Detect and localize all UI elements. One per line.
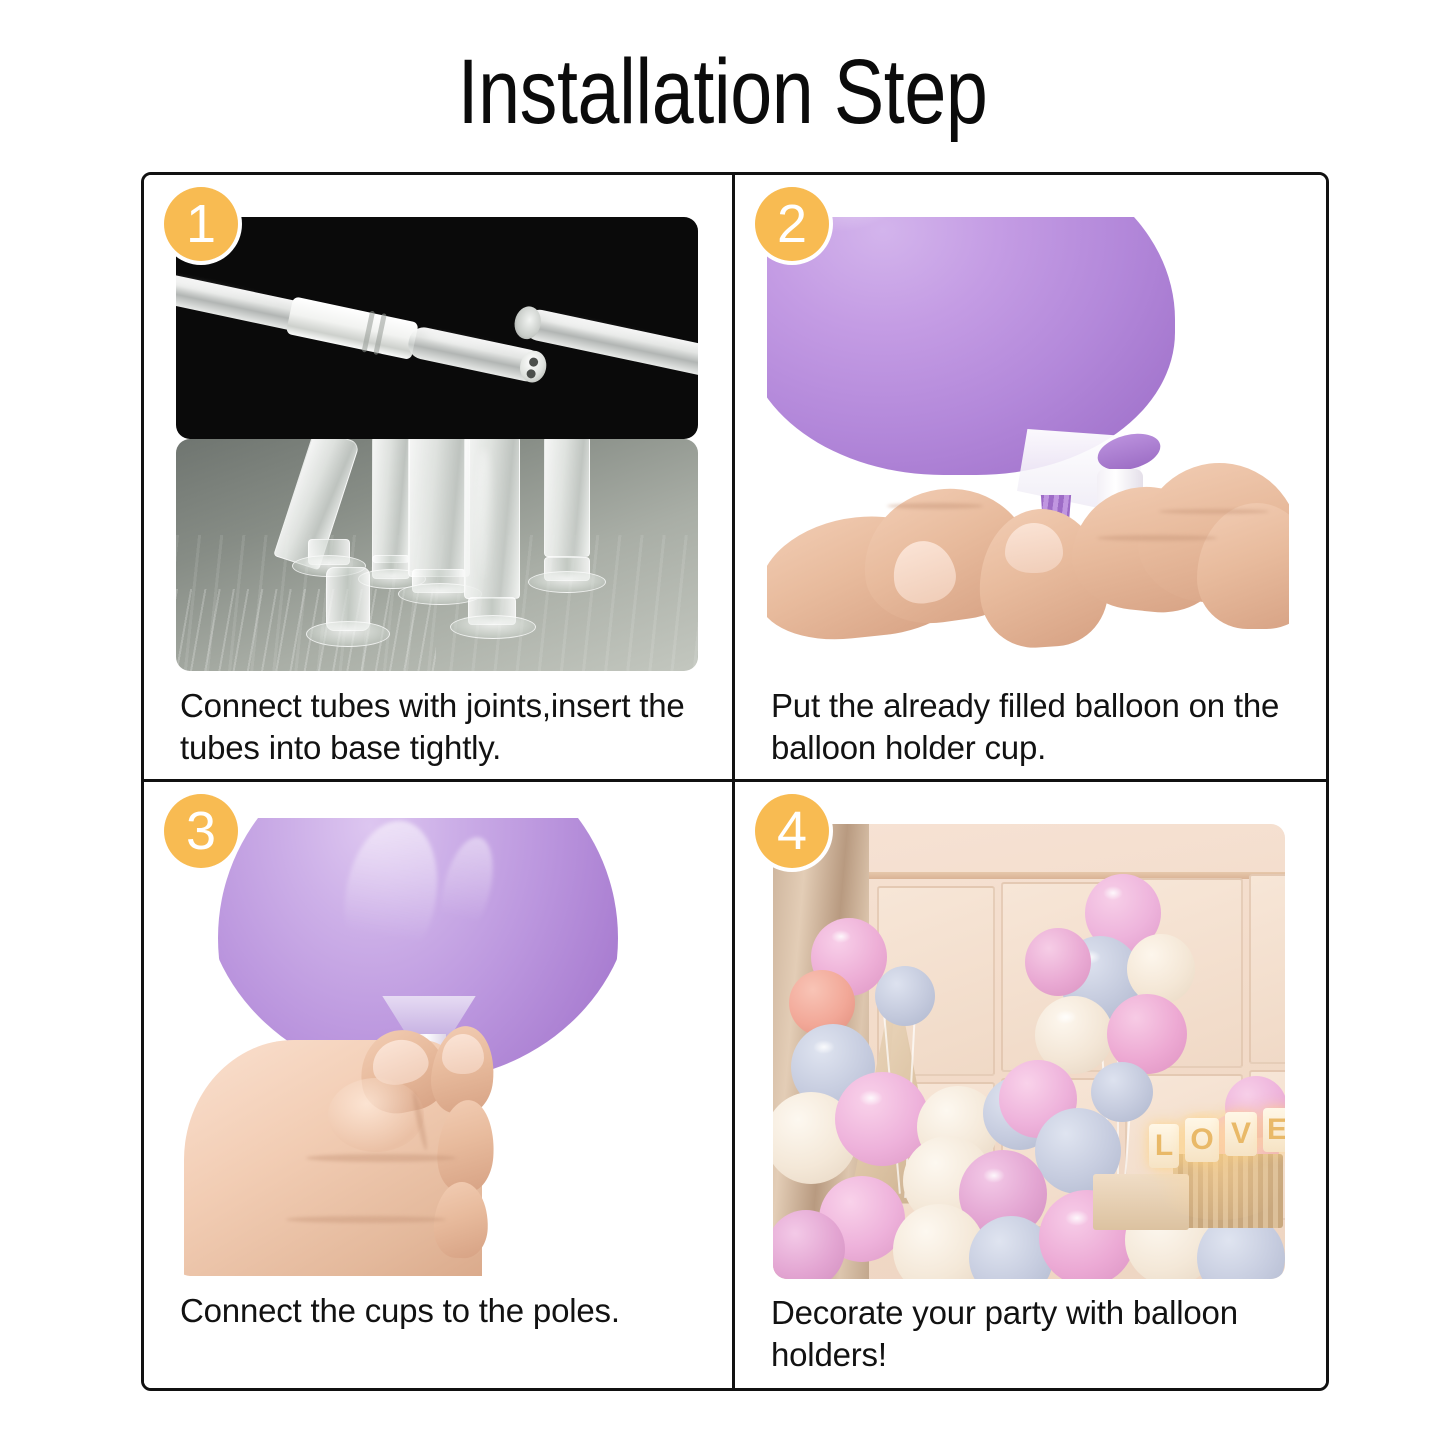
steps-grid: 1 Connect tubes with joints,insert the t… bbox=[141, 172, 1329, 1391]
love-letter-l: L bbox=[1149, 1124, 1179, 1168]
love-letter-e: E bbox=[1263, 1108, 1285, 1152]
step-panel-3: 3 Connect the cups to the poles. bbox=[144, 782, 735, 1389]
step-panel-1: 1 Connect tubes with joints,insert the t… bbox=[144, 175, 735, 782]
step-caption-2: Put the already filled balloon on the ba… bbox=[771, 685, 1308, 769]
step-badge-4: 4 bbox=[755, 794, 829, 868]
love-letter-v: V bbox=[1225, 1112, 1257, 1156]
step-2-photo-balloon-on-cup bbox=[767, 217, 1289, 672]
love-letter-o: O bbox=[1185, 1118, 1219, 1162]
step-caption-1: Connect tubes with joints,insert the tub… bbox=[180, 685, 714, 769]
step-caption-4: Decorate your party with balloon holders… bbox=[771, 1292, 1308, 1376]
step-badge-2: 2 bbox=[755, 187, 829, 261]
step-1-photo-tubes-joint bbox=[176, 217, 698, 439]
step-3-photo-cup-on-pole bbox=[176, 818, 698, 1276]
step-panel-4: L O V E 4 Decorate your party with ballo… bbox=[735, 782, 1326, 1389]
infographic-page: Installation Step bbox=[0, 0, 1445, 1445]
step-4-photo-party-decoration: L O V E bbox=[773, 824, 1285, 1279]
step-caption-3: Connect the cups to the poles. bbox=[180, 1290, 714, 1332]
page-title: Installation Step bbox=[130, 36, 1315, 148]
step-panel-2: 2 Put the already filled balloon on the … bbox=[735, 175, 1326, 782]
step-1-photo-tubes-in-base bbox=[176, 439, 698, 671]
step-badge-3: 3 bbox=[164, 794, 238, 868]
step-badge-1: 1 bbox=[164, 187, 238, 261]
